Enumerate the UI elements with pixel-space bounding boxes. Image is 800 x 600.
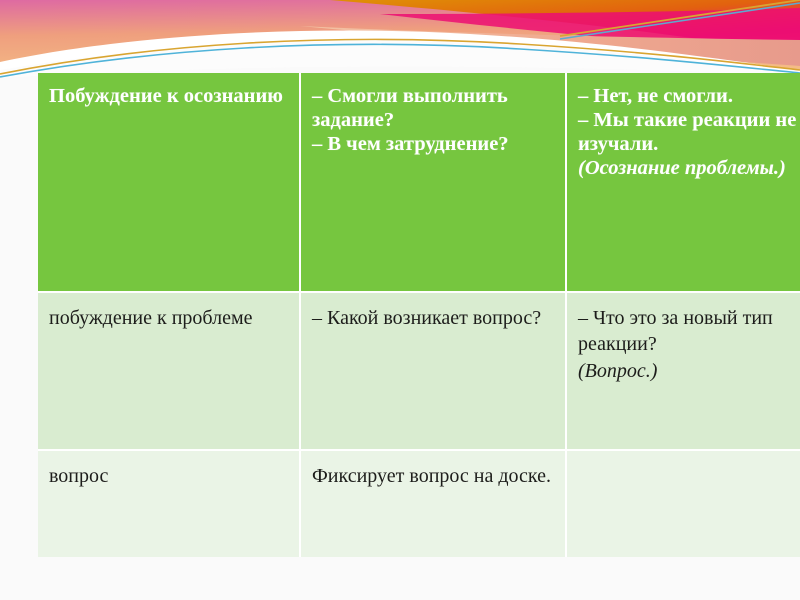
cell-text: побуждение к проблеме bbox=[49, 305, 288, 331]
table-cell-r2c1: побуждение к проблеме bbox=[38, 293, 301, 451]
table-row: побуждение к проблеме – Какой возникает … bbox=[38, 293, 800, 451]
cell-text: Побуждение к осознанию bbox=[49, 85, 288, 109]
table-cell-r3c2: Фиксирует вопрос на доске. bbox=[301, 451, 567, 557]
table-row: вопрос Фиксирует вопрос на доске. bbox=[38, 451, 800, 557]
table-cell-r1c1: Побуждение к осознанию bbox=[38, 73, 301, 293]
cell-text-italic: (Осознание проблемы.) bbox=[578, 157, 800, 181]
cell-text: – Какой возникает вопрос? bbox=[312, 305, 554, 331]
wave-banner-svg bbox=[0, 0, 800, 78]
cell-text: – Что это за новый тип реакции? bbox=[578, 305, 800, 358]
table-cell-r1c3: – Нет, не смогли. – Мы такие реакции не … bbox=[567, 73, 800, 293]
table-cell-r1c2: – Смогли выполнить задание? – В чем затр… bbox=[301, 73, 567, 293]
wave-banner-art bbox=[0, 0, 800, 78]
cell-text: вопрос bbox=[49, 463, 288, 489]
slide-canvas: Побуждение к осознанию – Смогли выполнит… bbox=[0, 0, 800, 600]
table-row: Побуждение к осознанию – Смогли выполнит… bbox=[38, 73, 800, 293]
cell-text: Фиксирует вопрос на доске. bbox=[312, 463, 554, 489]
cell-text: – Нет, не смогли. – Мы такие реакции не … bbox=[578, 85, 800, 157]
table-cell-r3c1: вопрос bbox=[38, 451, 301, 557]
cell-text: – Смогли выполнить задание? – В чем затр… bbox=[312, 85, 554, 157]
lesson-dialogue-table: Побуждение к осознанию – Смогли выполнит… bbox=[38, 73, 800, 557]
table-cell-r3c3 bbox=[567, 451, 800, 557]
table-cell-r2c3: – Что это за новый тип реакции? (Вопрос.… bbox=[567, 293, 800, 451]
table-cell-r2c2: – Какой возникает вопрос? bbox=[301, 293, 567, 451]
cell-text-italic: (Вопрос.) bbox=[578, 358, 800, 384]
